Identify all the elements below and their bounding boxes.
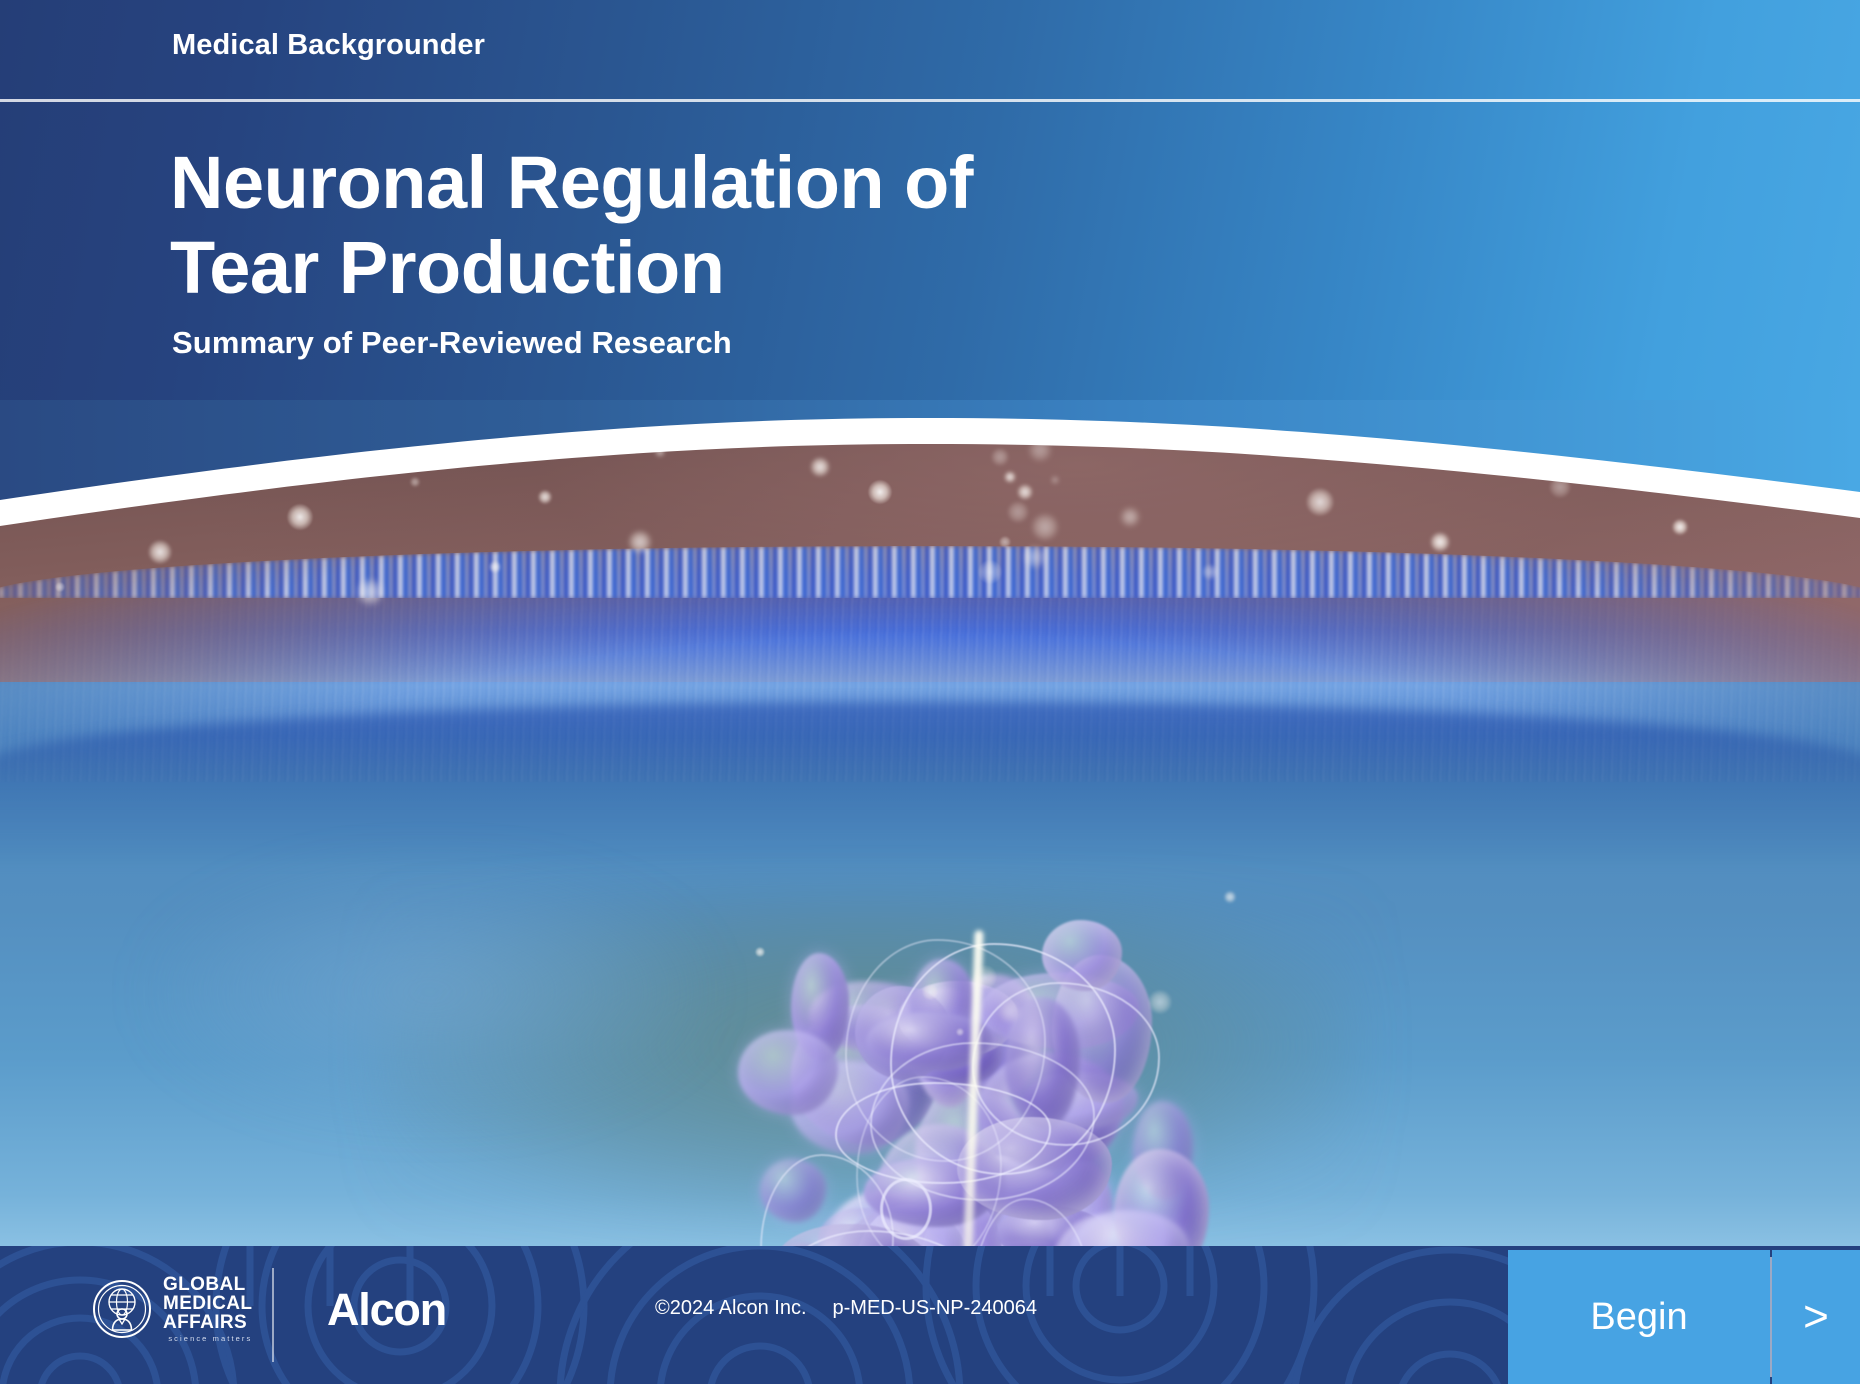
- copyright-text: ©2024 Alcon Inc.: [655, 1297, 807, 1320]
- gma-tagline: science matters: [163, 1335, 252, 1343]
- microvilli-layer: [0, 552, 1860, 852]
- eyebrow-label: Medical Backgrounder: [172, 29, 485, 62]
- alcon-brand-logo: Alcon: [327, 1284, 446, 1336]
- cell-cluster: [720, 912, 1200, 1246]
- begin-button[interactable]: Begin: [1508, 1250, 1770, 1384]
- gma-globe-person-icon: [92, 1279, 152, 1339]
- illustration-lower-blob-2: [150, 862, 710, 1122]
- hero-illustration: [0, 432, 1860, 1246]
- next-arrow-icon[interactable]: >: [1772, 1250, 1860, 1384]
- footer-logo-divider: [272, 1268, 274, 1362]
- global-medical-affairs-logo: GLOBAL MEDICAL AFFAIRS science matters: [92, 1275, 252, 1343]
- page-title: Neuronal Regulation of Tear Production: [170, 140, 1170, 310]
- microvilli-deep-shadow: [0, 702, 1860, 862]
- slide-root: Medical Backgrounder Neuronal Regulation…: [0, 0, 1860, 1384]
- gma-wordmark: GLOBAL MEDICAL AFFAIRS science matters: [163, 1275, 252, 1343]
- legal-line: ©2024 Alcon Inc. p-MED-US-NP-240064: [655, 1297, 1037, 1320]
- microvilli-crest: [0, 546, 1860, 598]
- header-divider-rule: [0, 99, 1860, 102]
- gma-line-global: GLOBAL: [163, 1275, 252, 1294]
- gma-line-medical: MEDICAL: [163, 1294, 252, 1313]
- page-subtitle: Summary of Peer-Reviewed Research: [172, 325, 732, 361]
- gma-line-affairs: AFFAIRS: [163, 1313, 252, 1332]
- job-code-text: p-MED-US-NP-240064: [833, 1297, 1038, 1320]
